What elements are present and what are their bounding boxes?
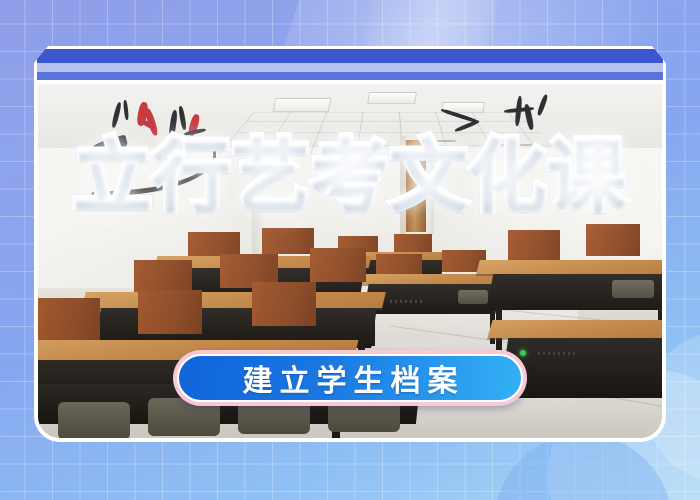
poster-canvas: 立行艺考文化课 建立学生档案 — [0, 0, 700, 500]
top-frame-stack — [34, 46, 666, 84]
chair-back — [58, 402, 130, 438]
wooden-door — [406, 140, 426, 232]
banner-pill: 建立学生档案 — [177, 354, 523, 402]
ceiling-tile-grid — [218, 112, 558, 154]
ceiling-light — [367, 92, 417, 104]
frame-bar-middle — [34, 72, 666, 80]
frame-bar-top — [34, 46, 666, 63]
door-side-panel — [426, 138, 434, 234]
banner-pill-outer: 建立学生档案 — [173, 350, 527, 406]
green-power-led — [520, 350, 526, 356]
ceiling-light — [441, 102, 484, 113]
frame-gap — [34, 63, 666, 72]
ceiling-light — [273, 98, 332, 112]
banner-text: 建立学生档案 — [236, 356, 465, 400]
decorative-circle-medium — [494, 434, 672, 500]
